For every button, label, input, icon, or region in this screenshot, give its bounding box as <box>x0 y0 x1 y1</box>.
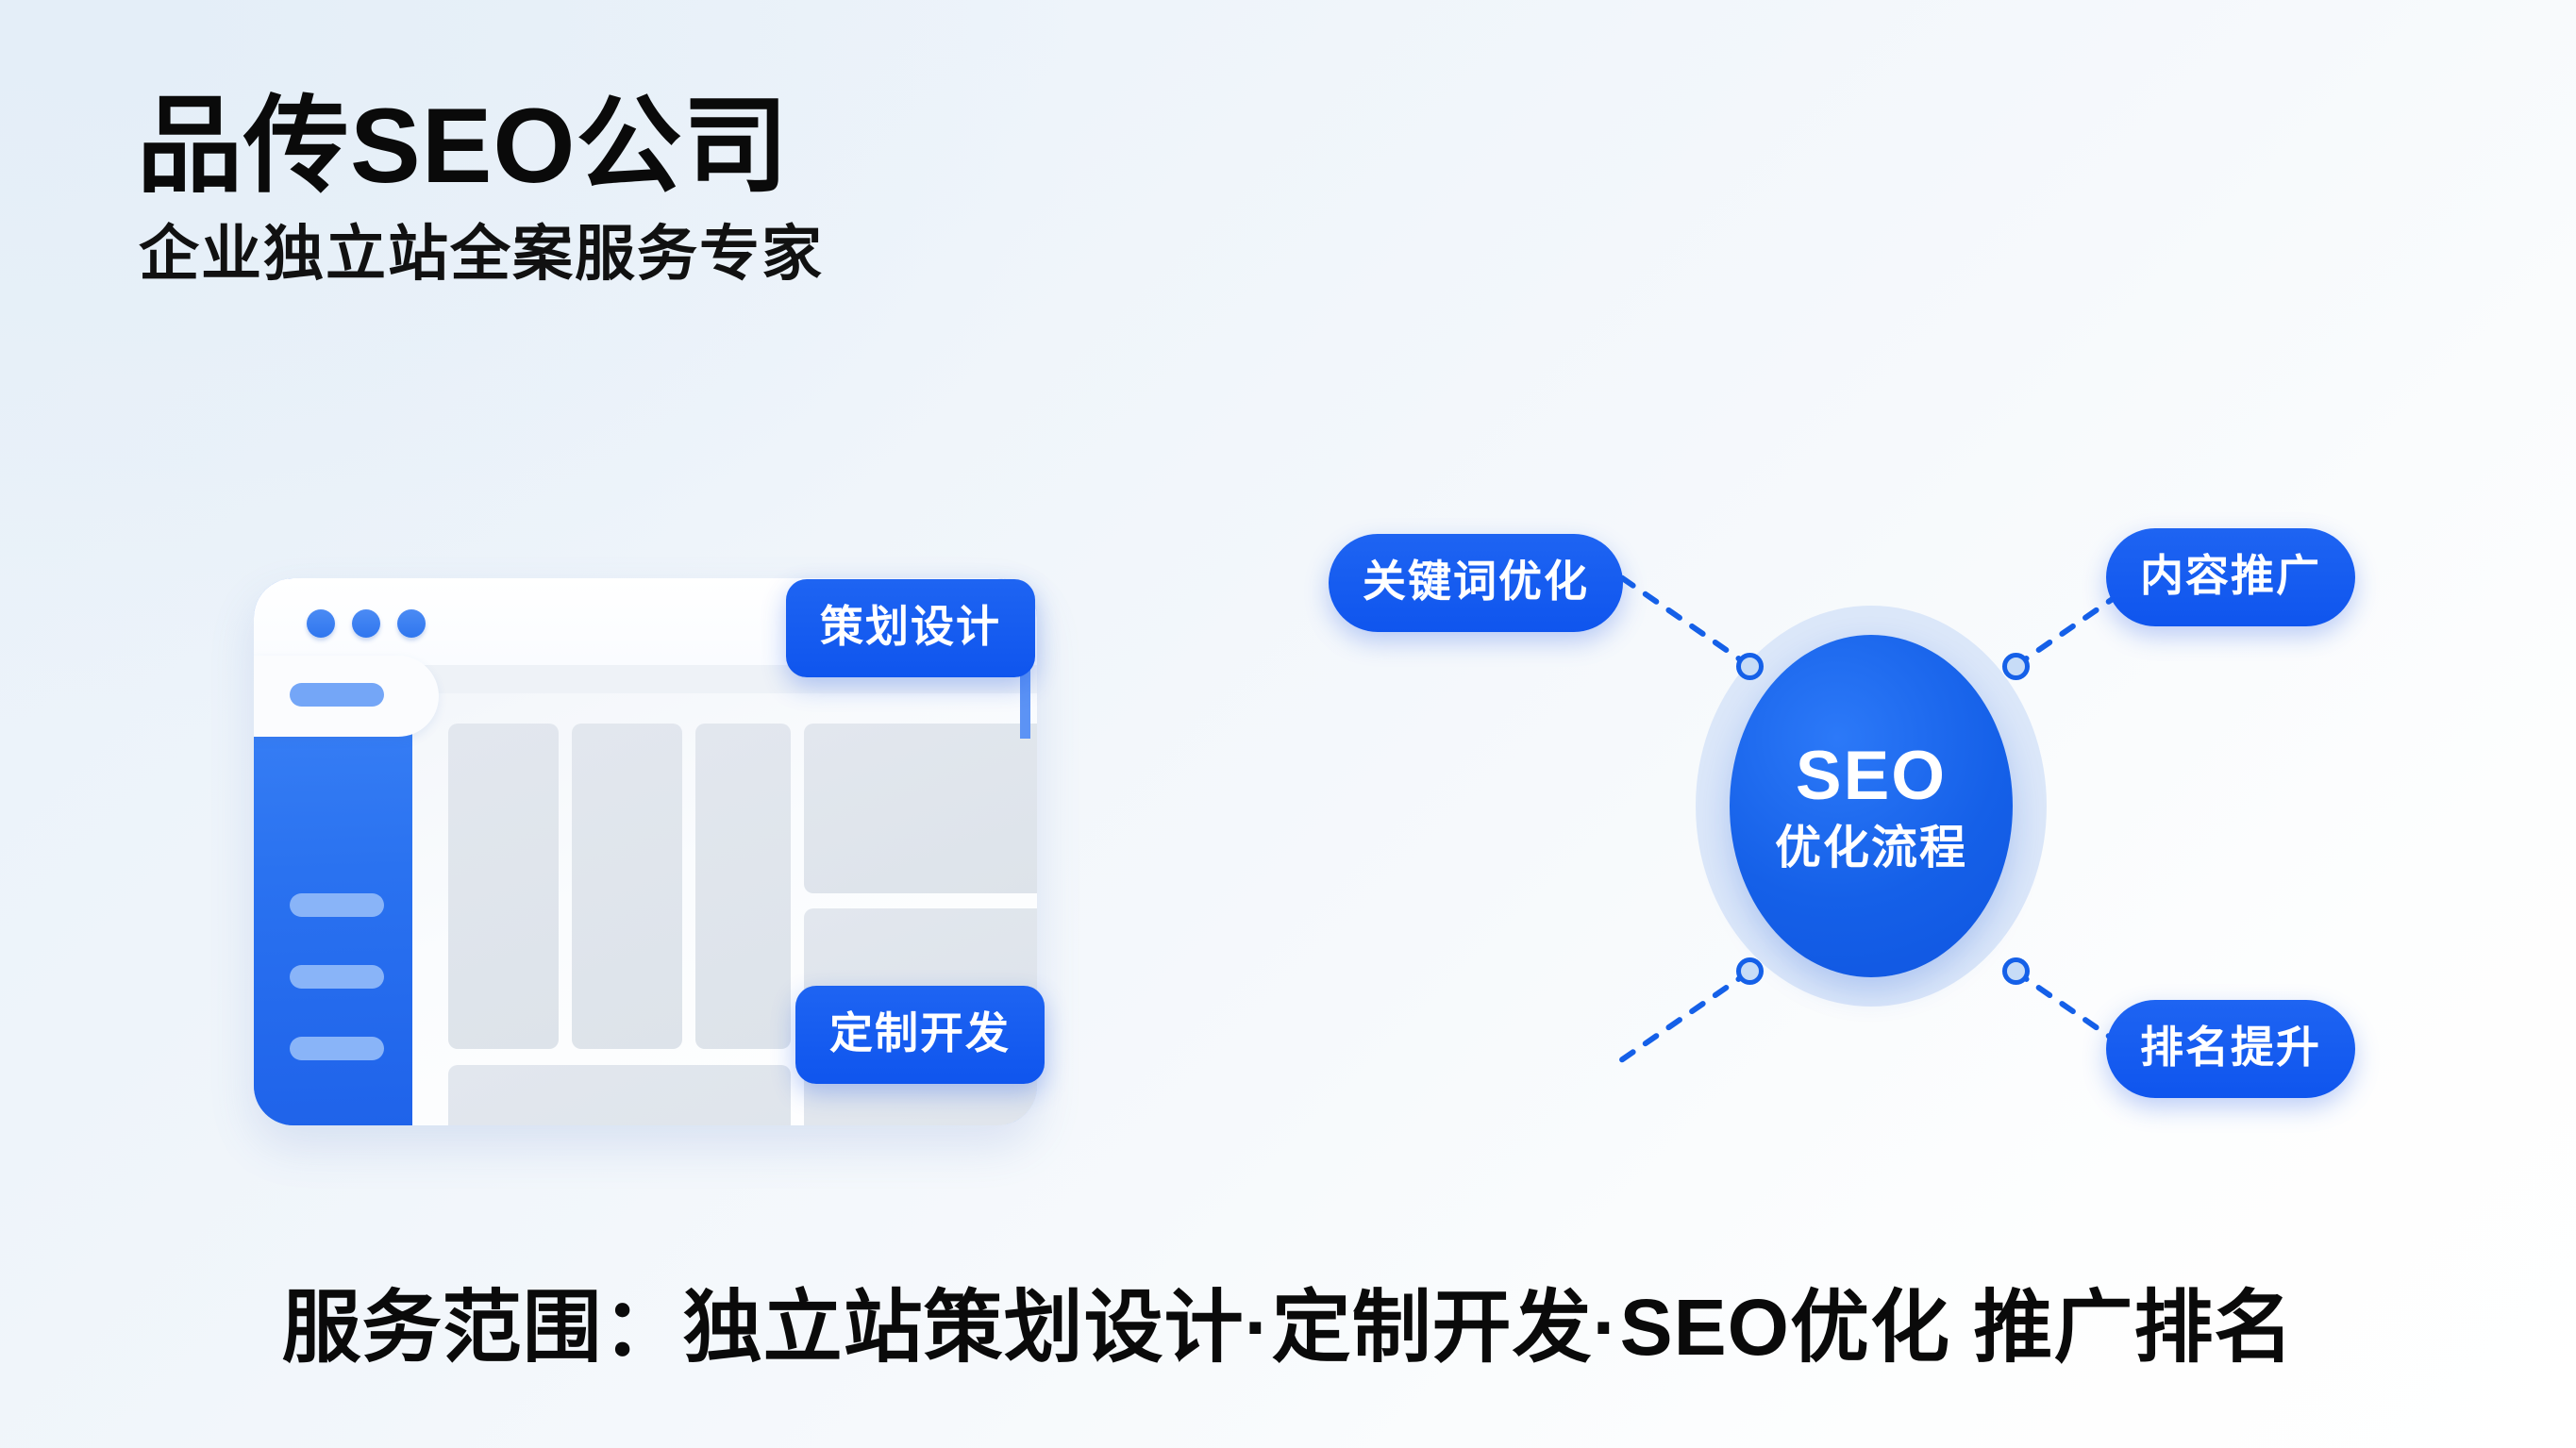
page-title: 品传SEO公司 <box>137 90 1458 204</box>
seo-node-dot <box>1736 957 1764 985</box>
sidebar-nav-item <box>290 1037 384 1060</box>
window-dot-icon <box>397 609 426 638</box>
window-dot-icon <box>307 609 335 638</box>
service-scope-text: 服务范围：独立站策划设计·定制开发·SEO优化 推广排名 <box>0 1264 2576 1378</box>
website-browser-illustration: 策划设计 定制开发 <box>241 561 1137 1151</box>
seo-core-circle: SEO 优化流程 <box>1730 635 2013 977</box>
seo-core-subtitle: 优化流程 <box>1775 825 1967 872</box>
badge-ranking-improvement: 排名提升 <box>2106 1000 2355 1098</box>
badge-content-promotion: 内容推广 <box>2106 528 2355 626</box>
content-block <box>804 724 1037 893</box>
badge-planning-design: 策划设计 <box>786 579 1035 677</box>
header-block: 品传SEO公司 企业独立站全案服务专家 <box>137 90 1458 287</box>
window-dot-icon <box>352 609 380 638</box>
content-block <box>448 1065 791 1125</box>
seo-core-title: SEO <box>1796 741 1947 810</box>
badge-custom-dev: 定制开发 <box>795 986 1045 1084</box>
content-block <box>695 724 791 1049</box>
seo-node-dot <box>2002 653 2030 680</box>
seo-node-dot <box>2002 957 2030 985</box>
content-block <box>448 724 559 1049</box>
poster-canvas: 品传SEO公司 企业独立站全案服务专家 <box>0 0 2576 1448</box>
connector-line-keyword <box>1621 577 1749 666</box>
content-block <box>572 724 682 1049</box>
sidebar-nav-item-active <box>254 656 439 737</box>
sidebar-nav-item-active-label <box>290 683 384 707</box>
badge-keyword-optimization: 关键词优化 <box>1329 534 1623 632</box>
page-subtitle: 企业独立站全案服务专家 <box>139 221 1458 287</box>
seo-process-diagram: SEO 优化流程 关键词优化 内容推广 排名提升 <box>1302 509 2548 1160</box>
seo-node-dot <box>1736 653 1764 680</box>
sidebar-nav-item <box>290 965 384 989</box>
connector-line-bottom-left <box>1621 972 1749 1060</box>
sidebar-nav-item <box>290 893 384 917</box>
